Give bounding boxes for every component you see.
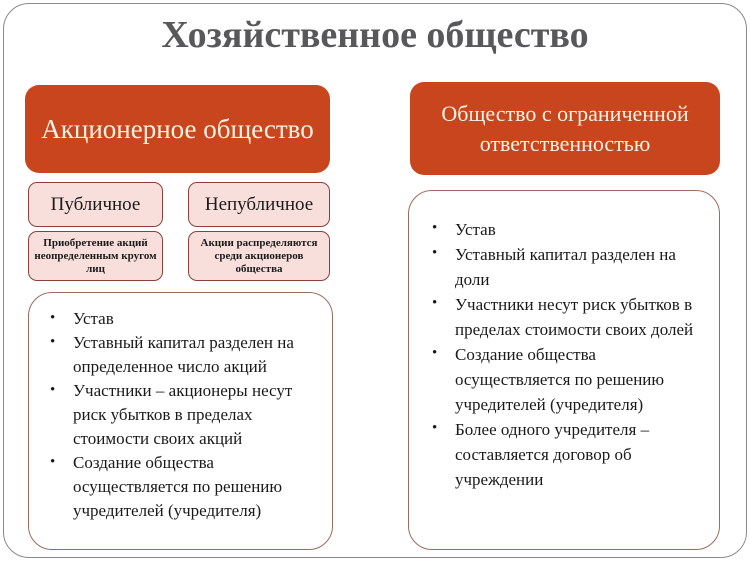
list-item: Устав <box>43 307 322 331</box>
list-item: Создание общества осуществляется по реше… <box>425 342 707 417</box>
subtype-nonpublic-label: Непубличное <box>188 182 330 227</box>
list-item: Уставный капитал разделен на определенно… <box>43 331 322 379</box>
right-column-bullet-list: Устав Уставный капитал разделен на доли … <box>409 191 719 492</box>
left-column-bullet-list: Устав Уставный капитал разделен на опред… <box>29 293 332 523</box>
list-item: Участники несут риск убытков в пределах … <box>425 292 707 342</box>
left-column-features-box: Устав Уставный капитал разделен на опред… <box>28 292 333 550</box>
list-item: Устав <box>425 217 707 242</box>
list-item: Создание общества осуществляется по реше… <box>43 451 322 523</box>
list-item: Участники – акционеры несут риск убытков… <box>43 379 322 451</box>
subtype-nonpublic-note: Акции распределяются среди акционеров об… <box>188 231 330 281</box>
right-column-header: Общество с ограниченной ответственностью <box>410 82 720 175</box>
subtype-public-note: Приобретение акций неопределенным кругом… <box>28 231 163 281</box>
left-column-header: Акционерное общество <box>25 85 330 173</box>
list-item: Более одного учредителя – составляется д… <box>425 417 707 492</box>
subtype-public-label: Публичное <box>28 182 163 227</box>
slide-root: Хозяйственное общество Акционерное общес… <box>0 0 750 561</box>
page-title: Хозяйственное общество <box>0 10 750 60</box>
list-item: Уставный капитал разделен на доли <box>425 242 707 292</box>
right-column-features-box: Устав Уставный капитал разделен на доли … <box>408 190 720 550</box>
